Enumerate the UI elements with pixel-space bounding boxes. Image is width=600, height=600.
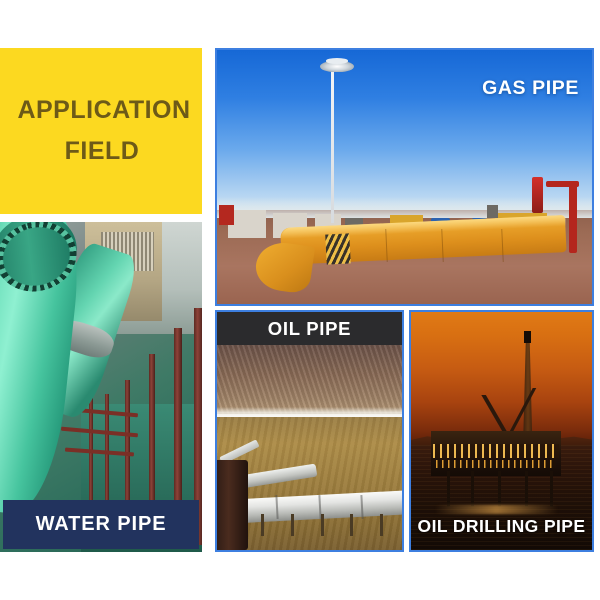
oil-drilling-pipe-label: OIL DRILLING PIPE bbox=[418, 516, 586, 537]
drilling-derrick-crown bbox=[524, 331, 531, 343]
water-pipe-label: WATER PIPE bbox=[36, 513, 167, 536]
drilling-deck-lights bbox=[436, 460, 555, 468]
gas-plant-equipment bbox=[228, 210, 266, 238]
oil-pipeline-support bbox=[380, 514, 383, 535]
oil-drilling-pipe-panel[interactable]: OIL DRILLING PIPE bbox=[409, 310, 594, 552]
oil-pipe-panel[interactable]: OIL PIPE bbox=[215, 310, 404, 552]
floodlight-tower-mast bbox=[331, 68, 334, 223]
gas-red-standpipe bbox=[569, 185, 577, 254]
oil-pipeline-support bbox=[291, 514, 294, 535]
gas-pipeline-hazard-band bbox=[325, 234, 351, 266]
drilling-water-reflection bbox=[435, 505, 558, 515]
gas-plant-equipment bbox=[219, 205, 234, 225]
drilling-platform-leg bbox=[550, 471, 553, 507]
oil-pipeline-support bbox=[350, 514, 353, 535]
oil-pipe-label-banner: OIL PIPE bbox=[217, 312, 402, 345]
floodlight-tower-lamps bbox=[326, 58, 349, 64]
application-field-line-2: FIELD bbox=[63, 138, 140, 166]
gas-plant-equipment bbox=[487, 205, 498, 218]
drilling-deck-lights bbox=[433, 444, 560, 458]
oil-pipeline-support bbox=[321, 514, 324, 535]
drilling-platform-leg bbox=[447, 471, 450, 507]
application-field-title-block: APPLICATION FIELD bbox=[0, 48, 202, 214]
drilling-platform-leg bbox=[498, 471, 501, 507]
oil-pipe-foreground-tank bbox=[215, 460, 248, 550]
water-pipe-panel[interactable]: WATER PIPE bbox=[0, 222, 202, 552]
drilling-platform-leg bbox=[471, 471, 474, 507]
oil-pipeline-support bbox=[261, 514, 264, 535]
gas-red-standpipe-top bbox=[546, 181, 580, 187]
gas-pipe-panel[interactable]: GAS PIPE bbox=[215, 48, 594, 306]
gas-pipe-label: GAS PIPE bbox=[482, 77, 579, 100]
application-field-line-1: APPLICATION bbox=[11, 97, 190, 125]
water-pipe-label-banner: WATER PIPE bbox=[3, 500, 199, 549]
gas-wellhead bbox=[532, 177, 543, 213]
oil-pipe-label: OIL PIPE bbox=[268, 318, 351, 340]
drilling-platform-leg bbox=[525, 471, 528, 507]
application-field-collage: APPLICATION FIELD GAS PIPE bbox=[0, 0, 600, 600]
